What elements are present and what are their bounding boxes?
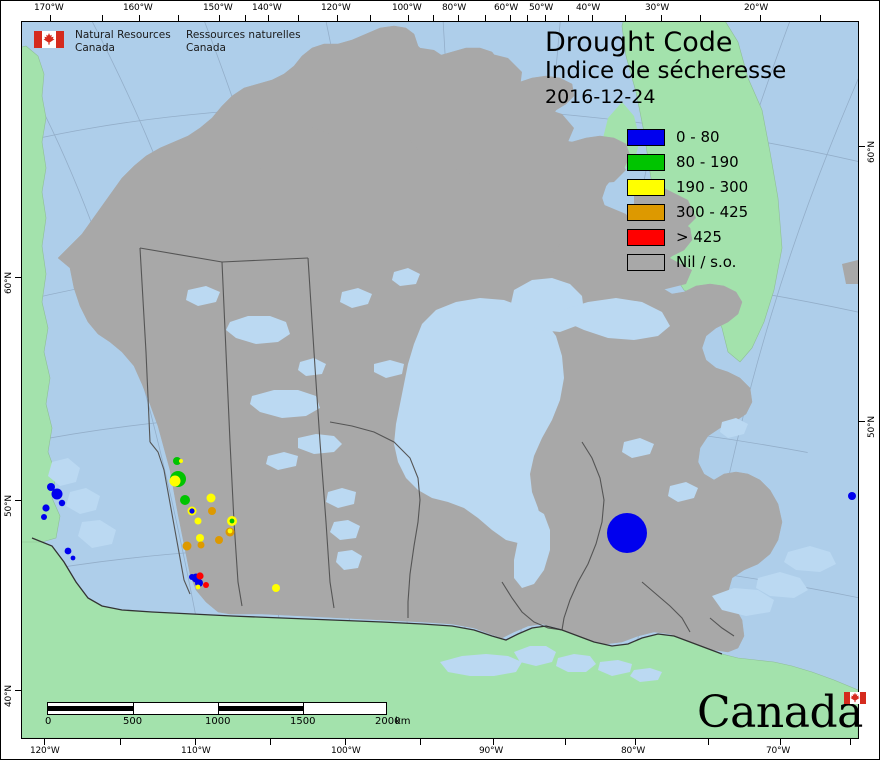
axis-label: 90°W (479, 746, 503, 756)
scale-bar: 0500100015002000km (47, 702, 387, 730)
station-markers-layer (22, 22, 858, 738)
axis-tick (859, 421, 865, 422)
axis-tick (50, 15, 51, 21)
axis-tick (268, 15, 269, 21)
legend-label: 300 - 425 (676, 203, 748, 222)
map-frame-top (21, 21, 859, 22)
station-marker (196, 585, 201, 590)
axis-tick (102, 15, 103, 21)
station-marker (180, 495, 190, 505)
axis-tick (661, 15, 662, 21)
canada-flag-icon (34, 31, 64, 48)
station-marker (65, 548, 72, 555)
legend-label: > 425 (676, 228, 722, 247)
axis-label: 100°W (331, 746, 361, 756)
axis-tick (298, 15, 299, 21)
axis-label: 100°W (392, 3, 422, 13)
maple-leaf-icon (850, 692, 860, 704)
axis-tick (850, 739, 851, 745)
frame-left (0, 0, 1, 760)
axis-label: 140°W (252, 3, 282, 13)
axis-tick (15, 277, 21, 278)
scale-bar-graphic (47, 702, 387, 715)
axis-tick (44, 739, 45, 745)
station-marker (195, 518, 202, 525)
axis-label: 40°W (576, 3, 600, 13)
station-marker (196, 534, 204, 542)
map-page: 170°W160°W150°W140°W120°W100°W80°W60°W50… (0, 0, 880, 760)
scale-tick-label: 1000 (205, 716, 230, 727)
axis-tick (565, 739, 566, 745)
maple-leaf-icon (43, 32, 55, 47)
legend-swatch (627, 154, 665, 171)
map-frame-left (21, 21, 22, 739)
scale-tick-label: 0 (45, 716, 51, 727)
axis-tick (485, 15, 486, 21)
map-canvas[interactable] (22, 22, 858, 738)
axis-label: 160°W (123, 3, 153, 13)
station-marker (215, 536, 223, 544)
axis-tick (708, 739, 709, 745)
signature-text-en: Natural Resources Canada (75, 29, 171, 55)
legend-label: 190 - 300 (676, 178, 748, 197)
station-marker (607, 513, 647, 553)
axis-label: 30°W (645, 3, 669, 13)
map-title-block: Drought Code Indice de sécheresse 2016-1… (545, 28, 786, 110)
title-date: 2016-12-24 (545, 85, 786, 110)
axis-label: 120°W (321, 3, 351, 13)
station-marker (41, 514, 47, 520)
axis-label: 60°N (4, 272, 14, 294)
axis-tick (15, 690, 21, 691)
axis-label: 80°W (621, 746, 645, 756)
station-marker (183, 542, 192, 551)
axis-tick (635, 739, 636, 745)
scale-bar-labels: 0500100015002000km (47, 716, 387, 730)
axis-tick (592, 15, 593, 21)
station-marker (230, 519, 235, 524)
signature-text-fr: Ressources naturelles Canada (186, 29, 301, 55)
canada-flag-icon (844, 692, 866, 704)
axis-tick (337, 15, 338, 21)
station-marker (52, 489, 63, 500)
axis-tick (493, 739, 494, 745)
axis-label: 110°W (181, 746, 211, 756)
axis-tick (245, 15, 246, 21)
legend-label: 0 - 80 (676, 128, 720, 147)
axis-label: 50°N (867, 416, 877, 438)
axis-label: 150°W (203, 3, 233, 13)
axis-tick (270, 739, 271, 745)
axis-tick (219, 15, 220, 21)
scale-tick-label: 1500 (290, 716, 315, 727)
axis-tick (859, 146, 865, 147)
station-marker (42, 504, 49, 511)
map-frame-right (858, 21, 859, 739)
station-marker (196, 572, 203, 579)
axis-bottom (0, 738, 880, 760)
legend-swatch (627, 254, 665, 271)
axis-tick (780, 739, 781, 745)
station-marker (189, 508, 194, 513)
scale-unit-label: km (395, 716, 411, 727)
axis-tick (120, 739, 121, 745)
axis-tick (760, 15, 761, 21)
axis-tick (527, 15, 528, 21)
legend-swatch (627, 229, 665, 246)
axis-tick (458, 15, 459, 21)
legend-label: Nil / s.o. (676, 253, 736, 272)
axis-label: 60°N (867, 141, 877, 163)
scale-tick-label: 500 (123, 716, 142, 727)
station-marker (179, 459, 183, 463)
station-marker (203, 582, 209, 588)
station-marker (208, 507, 216, 515)
axis-label: 50°W (529, 3, 553, 13)
axis-tick (433, 15, 434, 21)
axis-tick (178, 15, 179, 21)
legend-label: 80 - 190 (676, 153, 739, 172)
legend-swatch (627, 204, 665, 221)
axis-tick (545, 15, 546, 21)
station-marker (848, 492, 856, 500)
station-marker (198, 542, 205, 549)
axis-tick (408, 15, 409, 21)
axis-left (0, 0, 22, 760)
axis-label: 50°N (4, 495, 14, 517)
axis-label: 120°W (30, 746, 60, 756)
map-frame-bottom (21, 738, 859, 739)
axis-label: 170°W (34, 3, 64, 13)
station-marker (272, 584, 280, 592)
wordmark-text: Canada (697, 690, 863, 736)
station-marker (71, 556, 76, 561)
axis-label: 40°N (4, 685, 14, 707)
canada-wordmark: Canada (697, 690, 863, 736)
axis-right (858, 0, 880, 760)
axis-label: 20°W (744, 3, 768, 13)
axis-tick (370, 15, 371, 21)
axis-tick (139, 15, 140, 21)
axis-tick (420, 739, 421, 745)
station-marker (207, 494, 216, 503)
axis-tick (345, 739, 346, 745)
station-marker (170, 476, 181, 487)
station-marker (59, 500, 65, 506)
axis-tick (510, 15, 511, 21)
title-en: Drought Code (545, 28, 786, 58)
station-marker (228, 529, 233, 534)
axis-tick (568, 15, 569, 21)
axis-tick (820, 15, 821, 21)
frame-top (0, 0, 880, 1)
legend-swatch (627, 179, 665, 196)
axis-tick (625, 15, 626, 21)
axis-label: 60°W (494, 3, 518, 13)
legend-swatch (627, 129, 665, 146)
axis-tick (195, 739, 196, 745)
title-fr: Indice de sécheresse (545, 58, 786, 85)
axis-tick (700, 15, 701, 21)
axis-label: 70°W (766, 746, 790, 756)
axis-tick (15, 500, 21, 501)
axis-label: 80°W (442, 3, 466, 13)
